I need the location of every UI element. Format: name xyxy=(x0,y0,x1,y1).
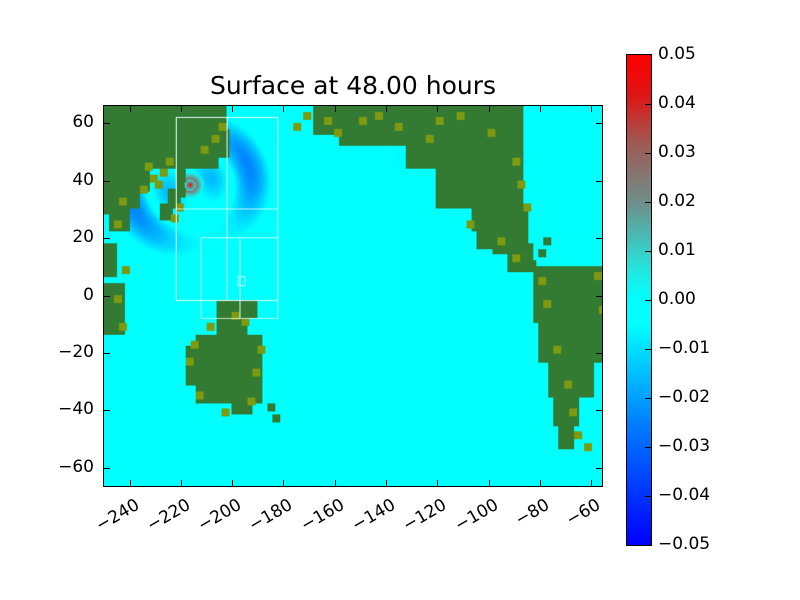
x-tick-top xyxy=(130,106,131,112)
colorbar[interactable] xyxy=(626,54,652,546)
colorbar-tick xyxy=(645,349,651,350)
colorbar-tick-label: 0.04 xyxy=(658,93,696,113)
y-tick-label: −20 xyxy=(0,342,94,362)
y-tick-label: 40 xyxy=(0,170,94,190)
x-tick-bottom xyxy=(181,480,182,486)
x-tick-top xyxy=(335,106,336,112)
colorbar-tick-label: −0.03 xyxy=(658,436,710,456)
y-tick-left xyxy=(104,238,110,239)
x-tick-label: −120 xyxy=(395,495,450,538)
y-tick-right xyxy=(596,468,602,469)
y-tick-right xyxy=(596,238,602,239)
colorbar-tick xyxy=(645,251,651,252)
y-tick-right xyxy=(596,181,602,182)
colorbar-tick xyxy=(645,300,651,301)
colorbar-tick xyxy=(645,153,651,154)
x-tick-label: −100 xyxy=(447,495,502,538)
surface-elevation-heatmap xyxy=(104,106,602,486)
matplotlib-figure: Surface at 48.00 hours 6040200−20−40−60 … xyxy=(0,0,800,600)
x-tick-bottom xyxy=(437,480,438,486)
colorbar-tick-label: −0.01 xyxy=(658,338,710,358)
y-tick-left xyxy=(104,468,110,469)
y-tick-left xyxy=(104,296,110,297)
y-tick-right xyxy=(596,123,602,124)
x-tick-bottom xyxy=(283,480,284,486)
x-tick-top xyxy=(232,106,233,112)
x-tick-bottom xyxy=(130,480,131,486)
x-tick-top xyxy=(386,106,387,112)
x-tick-bottom xyxy=(540,480,541,486)
colorbar-tick xyxy=(645,202,651,203)
x-tick-label: −200 xyxy=(190,495,245,538)
colorbar-tick xyxy=(645,104,651,105)
y-tick-right xyxy=(596,410,602,411)
x-tick-label: −240 xyxy=(88,495,143,538)
colorbar-tick xyxy=(645,447,651,448)
x-tick-label: −160 xyxy=(293,495,348,538)
x-tick-bottom xyxy=(386,480,387,486)
x-tick-top xyxy=(489,106,490,112)
y-tick-left xyxy=(104,123,110,124)
y-tick-label: −40 xyxy=(0,399,94,419)
y-tick-label: −60 xyxy=(0,457,94,477)
y-tick-left xyxy=(104,181,110,182)
x-tick-top xyxy=(437,106,438,112)
colorbar-tick-label: 0.00 xyxy=(658,289,696,309)
x-tick-top xyxy=(283,106,284,112)
x-tick-label: −220 xyxy=(139,495,194,538)
colorbar-tick-label: −0.05 xyxy=(658,534,710,554)
y-tick-label: 60 xyxy=(0,112,94,132)
y-tick-label: 20 xyxy=(0,227,94,247)
x-tick-top xyxy=(540,106,541,112)
x-tick-bottom xyxy=(591,480,592,486)
x-tick-bottom xyxy=(335,480,336,486)
colorbar-tick-label: −0.04 xyxy=(658,485,710,505)
x-tick-top xyxy=(591,106,592,112)
x-tick-top xyxy=(181,106,182,112)
x-tick-label: −60 xyxy=(549,495,604,538)
colorbar-tick xyxy=(645,398,651,399)
y-tick-label: 0 xyxy=(0,285,94,305)
x-tick-label: −80 xyxy=(498,495,553,538)
x-tick-label: −140 xyxy=(344,495,399,538)
y-tick-left xyxy=(104,353,110,354)
x-tick-bottom xyxy=(232,480,233,486)
map-axes[interactable] xyxy=(103,105,603,487)
x-tick-label: −180 xyxy=(241,495,296,538)
y-tick-left xyxy=(104,410,110,411)
colorbar-tick-label: 0.03 xyxy=(658,142,696,162)
colorbar-tick-label: 0.01 xyxy=(658,240,696,260)
colorbar-tick-label: 0.02 xyxy=(658,191,696,211)
y-tick-right xyxy=(596,353,602,354)
colorbar-tick xyxy=(645,496,651,497)
y-tick-right xyxy=(596,296,602,297)
colorbar-tick-label: −0.02 xyxy=(658,387,710,407)
x-tick-bottom xyxy=(489,480,490,486)
colorbar-tick-label: 0.05 xyxy=(658,44,696,64)
page-title: Surface at 48.00 hours xyxy=(103,72,603,100)
